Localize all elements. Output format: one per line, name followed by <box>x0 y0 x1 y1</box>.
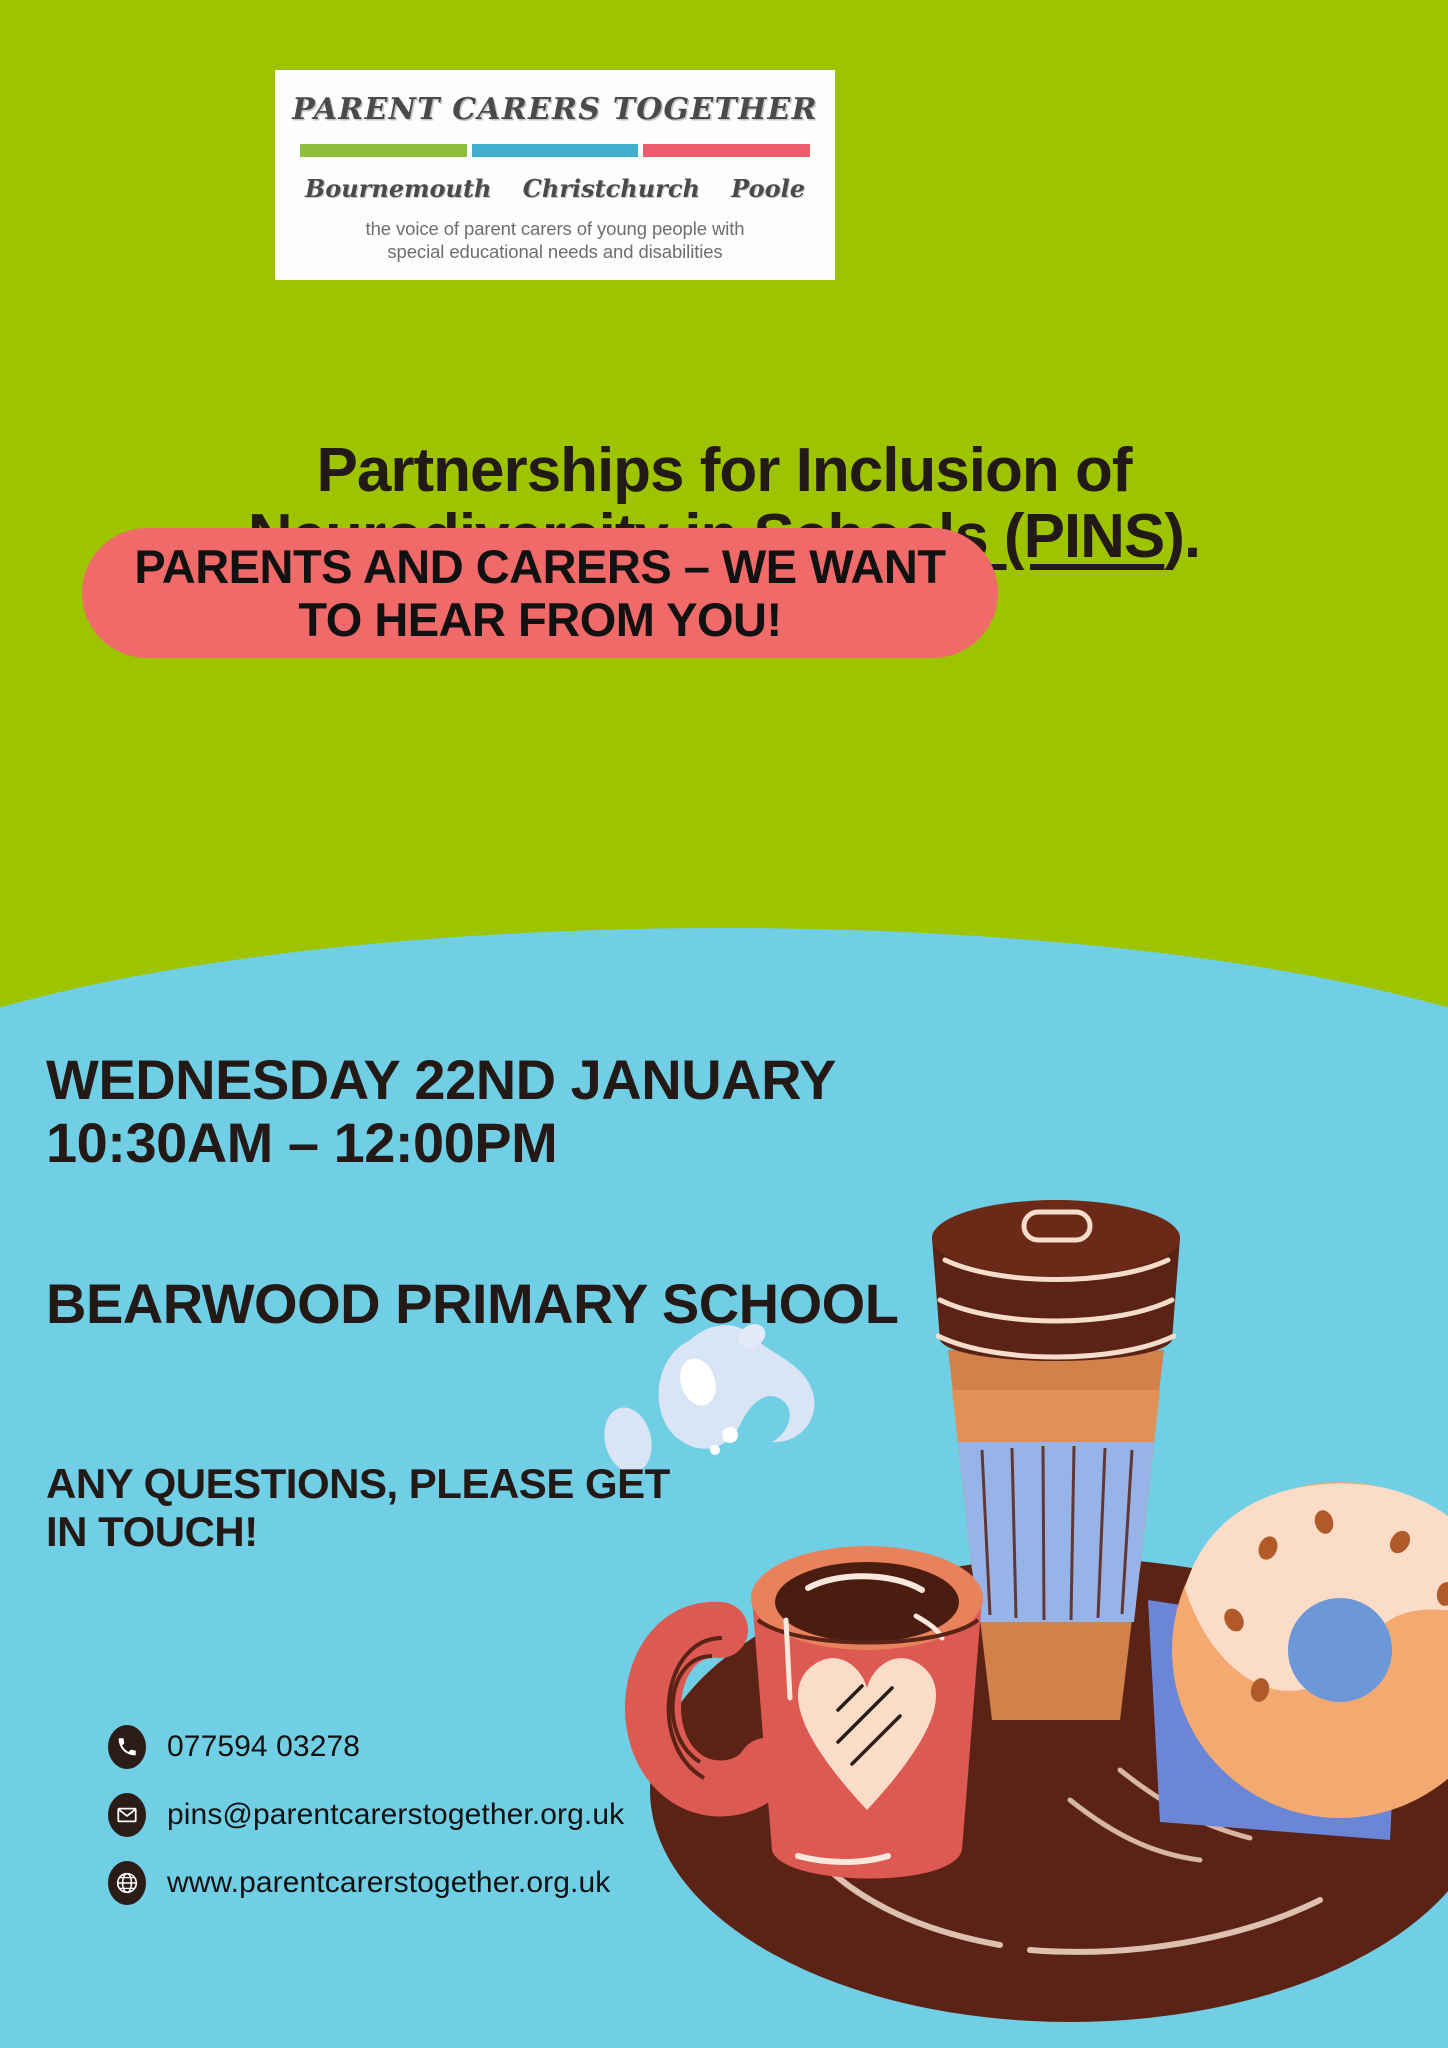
event-venue-name: BEARWOOD PRIMARY SCHOOL <box>46 1272 898 1335</box>
logo-tagline-line1: the voice of parent carers of young peop… <box>366 218 745 241</box>
logo-bar-blue <box>472 144 639 157</box>
logo-town-bournemouth: Bournemouth <box>305 174 492 203</box>
logo-bar-red <box>643 144 810 157</box>
logo-colour-bars <box>300 144 810 157</box>
contact-details: 077594 03278 pins@parentcarerstogether.o… <box>108 1725 624 1929</box>
logo-tagline: the voice of parent carers of young peop… <box>366 218 745 263</box>
logo-towns: Bournemouth Christchurch Poole <box>305 174 805 203</box>
logo-bar-green <box>300 144 467 157</box>
website-url: www.parentcarerstogether.org.uk <box>167 1866 610 1900</box>
event-date: WEDNESDAY 22ND JANUARY <box>46 1048 836 1111</box>
banner-line-2: TO HEAR FROM YOU! <box>134 593 945 646</box>
contact-prompt-line-2: IN TOUCH! <box>46 1508 670 1556</box>
logo-title: PARENT CARERS TOGETHER <box>292 92 817 127</box>
headline-line-1: Partnerships for Inclusion of <box>0 438 1448 504</box>
steam-icon <box>600 1319 814 1477</box>
globe-icon <box>108 1861 146 1905</box>
headline-line-2-tail: ). <box>1164 502 1200 571</box>
email-icon <box>108 1793 146 1837</box>
contact-prompt: ANY QUESTIONS, PLEASE GET IN TOUCH! <box>46 1460 670 1556</box>
contact-row-email[interactable]: pins@parentcarerstogether.org.uk <box>108 1793 624 1837</box>
logo-town-christchurch: Christchurch <box>523 174 700 203</box>
contact-prompt-line-1: ANY QUESTIONS, PLEASE GET <box>46 1460 670 1508</box>
event-venue: BEARWOOD PRIMARY SCHOOL <box>46 1272 898 1335</box>
logo-tagline-line2: special educational needs and disabiliti… <box>366 241 745 264</box>
call-to-action-banner: PARENTS AND CARERS – WE WANT TO HEAR FRO… <box>82 528 998 658</box>
phone-icon <box>108 1725 146 1769</box>
banner-line-1: PARENTS AND CARERS – WE WANT <box>134 540 945 593</box>
event-datetime: WEDNESDAY 22ND JANUARY 10:30AM – 12:00PM <box>46 1048 836 1175</box>
phone-number: 077594 03278 <box>167 1730 360 1764</box>
logo-town-poole: Poole <box>731 174 805 203</box>
poster-canvas: PARENT CARERS TOGETHER Bournemouth Chris… <box>0 0 1448 2048</box>
event-time: 10:30AM – 12:00PM <box>46 1111 836 1174</box>
contact-row-website[interactable]: www.parentcarerstogether.org.uk <box>108 1861 624 1905</box>
email-address: pins@parentcarerstogether.org.uk <box>167 1798 624 1832</box>
contact-row-phone[interactable]: 077594 03278 <box>108 1725 624 1769</box>
organisation-logo: PARENT CARERS TOGETHER Bournemouth Chris… <box>275 70 835 280</box>
